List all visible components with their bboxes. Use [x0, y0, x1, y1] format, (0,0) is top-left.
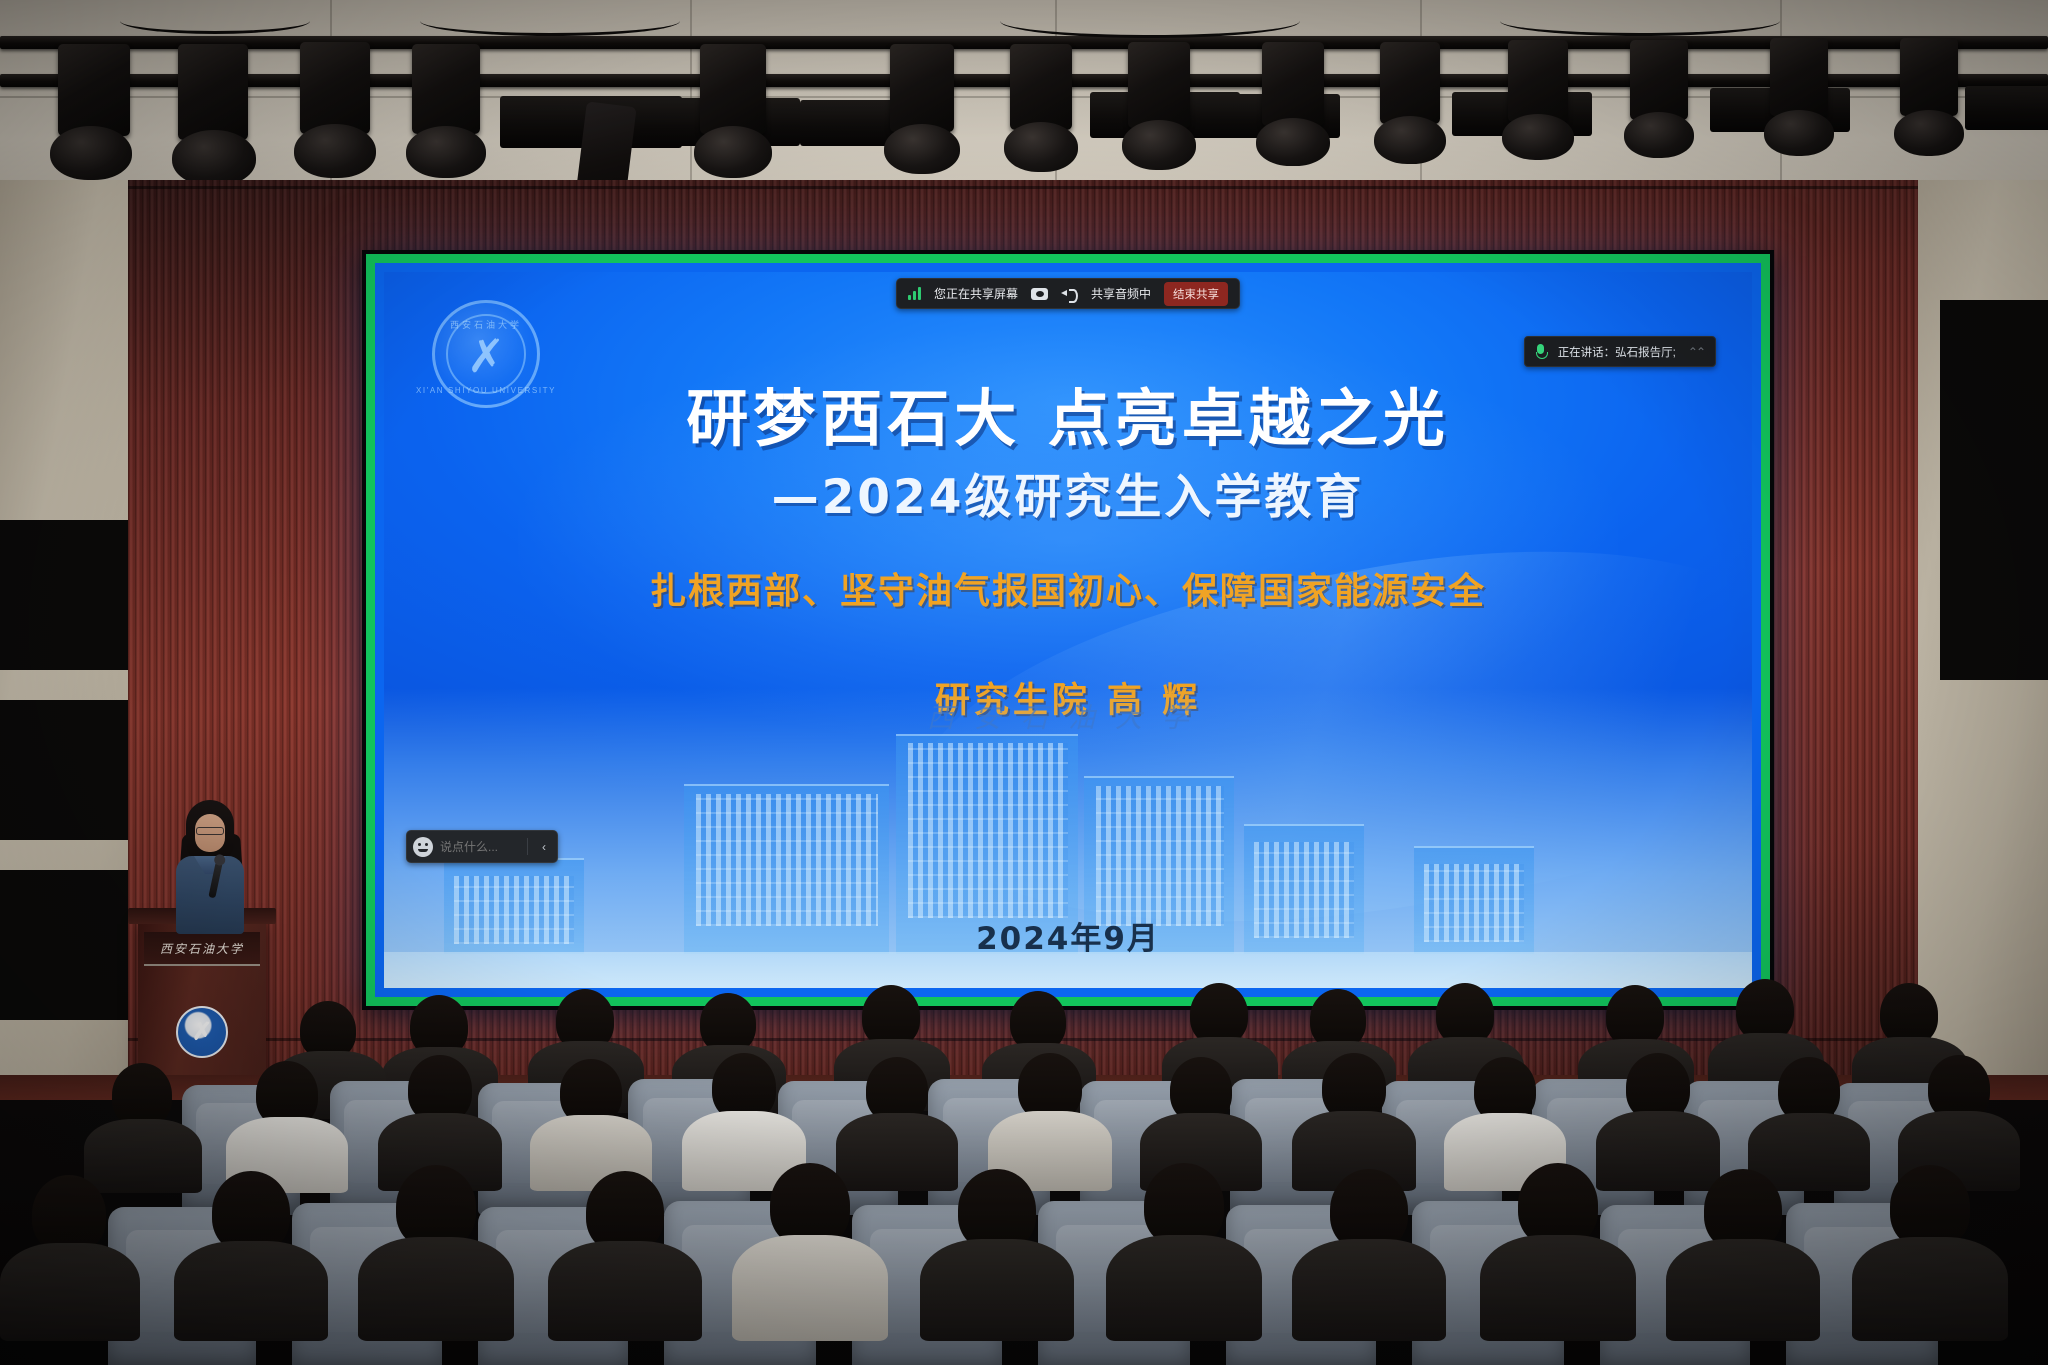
- screen-share-toolbar[interactable]: 您正在共享屏幕 共享音频中 结束共享: [896, 278, 1240, 309]
- chevron-left-icon[interactable]: ‹: [535, 840, 553, 854]
- slide-slogan: 扎根西部、坚守油气报国初心、保障国家能源安全: [384, 562, 1752, 614]
- rig-cable: [1000, 4, 1300, 38]
- stage-light: [700, 44, 766, 134]
- audience-seating: [0, 935, 2048, 1365]
- stage-light-lens: [694, 126, 772, 178]
- stage-light-lens: [1256, 118, 1330, 166]
- stage-light: [890, 44, 954, 132]
- stage-light: [1770, 38, 1828, 116]
- stage-light-lens: [1764, 110, 1834, 156]
- screen-share-border: 西安石油大学 ✗ XI'AN SHIYOU UNIVERSITY 研梦西石大 点…: [366, 254, 1770, 1006]
- presenter-person: [168, 800, 252, 930]
- wall-recess: [0, 700, 132, 840]
- stage-light-lens: [884, 124, 960, 174]
- camera-icon[interactable]: [1031, 288, 1048, 300]
- stage-light: [1900, 38, 1958, 116]
- stage-light-lens: [1624, 112, 1694, 158]
- stage-light: [412, 44, 480, 134]
- wall-recess: [1940, 300, 2048, 680]
- stage-light-lens: [1122, 120, 1196, 170]
- share-status-label: 您正在共享屏幕: [934, 285, 1018, 302]
- stage-light: [178, 44, 248, 140]
- stage-light: [300, 42, 370, 134]
- stage-light-lens: [294, 124, 376, 178]
- chat-input-dock[interactable]: ‹: [406, 830, 558, 863]
- shared-slide: 西安石油大学 ✗ XI'AN SHIYOU UNIVERSITY 研梦西石大 点…: [384, 272, 1752, 988]
- stage-light-lens: [172, 130, 256, 186]
- speaker-icon[interactable]: [1061, 287, 1078, 300]
- stage-light: [1010, 44, 1072, 130]
- stage-light-lens: [1894, 110, 1964, 156]
- stage-light-lens: [1374, 116, 1446, 164]
- stage-light: [1128, 42, 1190, 128]
- stage-light-lens: [50, 126, 132, 180]
- stage-light: [1380, 42, 1440, 124]
- slide-subtitle: —2024级研究生入学教育: [384, 458, 1752, 527]
- stage-light: [1630, 40, 1688, 120]
- rig-cable: [120, 8, 310, 34]
- stage-light: [1508, 40, 1568, 122]
- rig-cable: [420, 6, 680, 36]
- campus-caption: 西安石油大学: [927, 696, 1209, 735]
- signal-bars-icon: [908, 287, 921, 300]
- rig-cable: [1500, 6, 1780, 36]
- chat-input[interactable]: [440, 840, 520, 854]
- emoji-smiley-icon[interactable]: [413, 837, 433, 857]
- glasses-icon: [196, 827, 224, 835]
- auditorium-scene: 西安石油大学 ✗ XI'AN SHIYOU UNIVERSITY 研梦西石大 点…: [0, 0, 2048, 1365]
- share-audio-label: 共享音频中: [1091, 285, 1151, 302]
- stage-light-lens: [1004, 122, 1078, 172]
- active-speaker-label: 正在讲话：弘石报告厅;: [1558, 344, 1676, 360]
- stage-light: [1262, 42, 1324, 126]
- active-speaker-indicator[interactable]: 正在讲话：弘石报告厅; ⌃⌃: [1524, 336, 1716, 367]
- end-share-button[interactable]: 结束共享: [1164, 282, 1228, 306]
- stage-light-panel: [1965, 86, 2048, 130]
- slide-title: 研梦西石大 点亮卓越之光: [384, 368, 1752, 458]
- divider: [527, 838, 528, 855]
- projection-screen: 西安石油大学 ✗ XI'AN SHIYOU UNIVERSITY 研梦西石大 点…: [362, 250, 1774, 1010]
- microphone-icon: [1536, 344, 1546, 360]
- wall-recess: [0, 520, 132, 670]
- chevron-double-up-icon[interactable]: ⌃⌃: [1688, 345, 1704, 359]
- stage-light: [58, 44, 130, 136]
- stage-light-lens: [1502, 114, 1574, 160]
- stage-light-lens: [406, 126, 486, 178]
